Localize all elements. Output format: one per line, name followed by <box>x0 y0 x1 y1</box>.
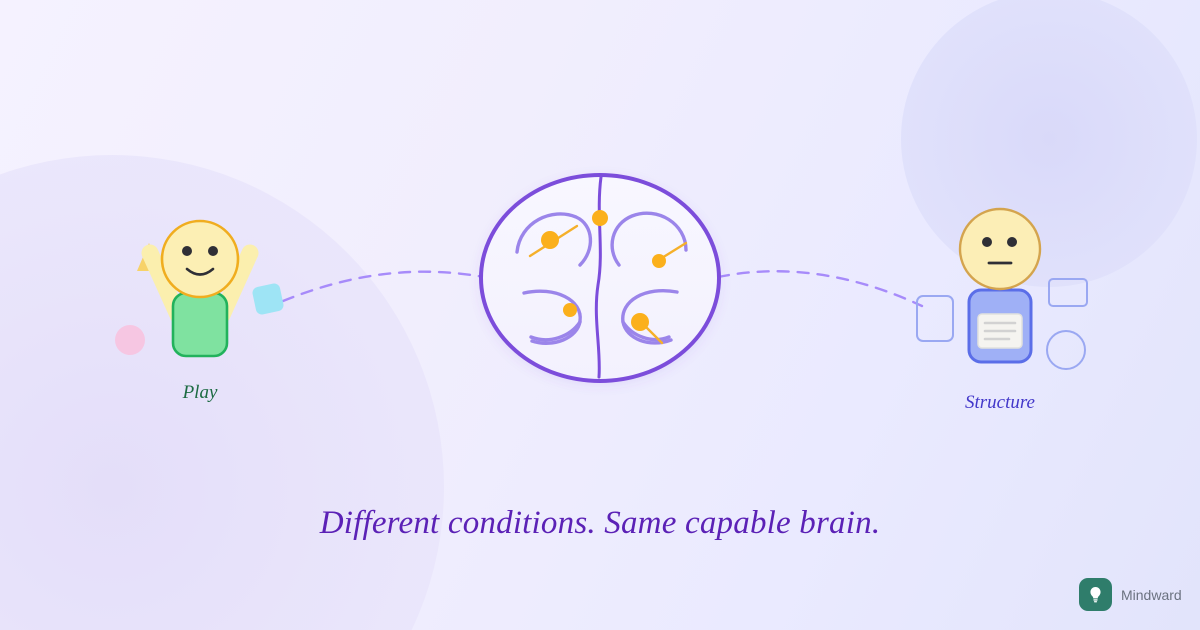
spark-node-upper-right <box>652 254 666 268</box>
brand-lockup: Mindward <box>1079 578 1182 611</box>
label-play: Play <box>140 382 260 404</box>
poster-canvas: Play Structure Different conditions. Sam… <box>0 0 1200 630</box>
prop-square-blue <box>251 282 284 315</box>
spark-node-lower-left <box>563 303 577 317</box>
lightbulb-icon <box>1086 585 1105 604</box>
spark-node-upper-left <box>541 231 559 249</box>
play-eye-right <box>208 246 218 256</box>
structure-head <box>960 209 1040 289</box>
play-body <box>173 293 227 356</box>
prop-rounded-rect-left <box>917 296 953 341</box>
brand-mark <box>1079 578 1112 611</box>
structure-eye-left <box>982 237 992 247</box>
play-eye-left <box>182 246 192 256</box>
label-structure: Structure <box>925 392 1075 414</box>
prop-circle-bottom-right <box>1047 331 1085 369</box>
spark-node-lower-right <box>631 313 649 331</box>
structure-eye-right <box>1007 237 1017 247</box>
prop-circle-pink <box>115 325 145 355</box>
brand-name: Mindward <box>1121 587 1182 603</box>
spark-node-top <box>592 210 608 226</box>
scene-brain <box>481 175 719 381</box>
play-head <box>162 221 238 297</box>
connector-brain-to-structure <box>718 271 922 306</box>
blob-top-right <box>901 0 1197 287</box>
illustration-layer <box>0 0 1200 630</box>
